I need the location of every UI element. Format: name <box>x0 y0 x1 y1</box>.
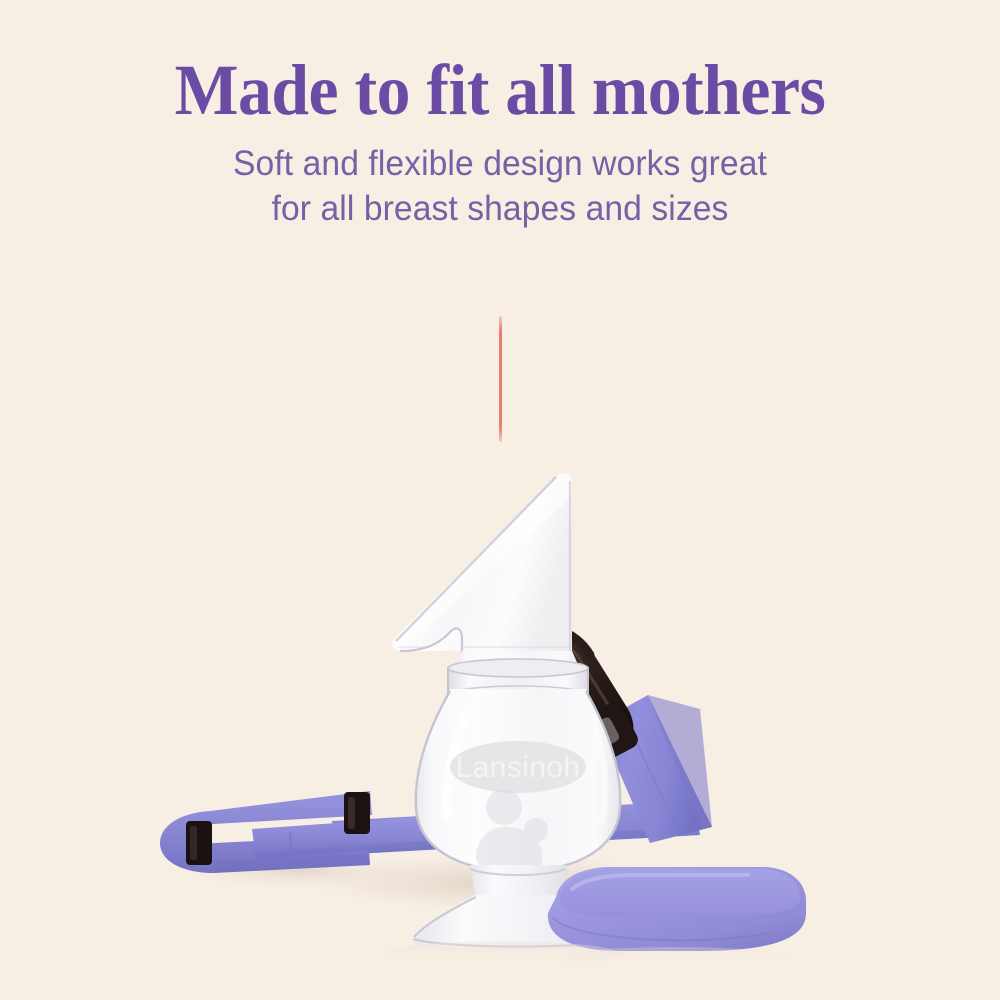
product-image: Lansinoh <box>0 455 1000 1000</box>
page-subtitle-line-2: for all breast shapes and sizes <box>106 187 893 232</box>
surface-reflection-lid <box>558 947 794 971</box>
strap-adjuster-right <box>344 792 370 834</box>
strap-adjuster-left <box>186 821 212 865</box>
page-title: Made to fit all mothers <box>30 54 970 126</box>
vertical-rule-divider <box>499 316 502 442</box>
page-subtitle: Soft and flexible design works great for… <box>106 142 893 232</box>
lid-cover <box>548 867 806 951</box>
promo-card: Made to fit all mothers Soft and flexibl… <box>0 0 1000 1000</box>
text-block: Made to fit all mothers Soft and flexibl… <box>0 0 1000 232</box>
page-subtitle-line-1: Soft and flexible design works great <box>106 142 893 187</box>
brand-label: Lansinoh <box>456 751 581 784</box>
brand-badge: Lansinoh <box>450 741 586 793</box>
